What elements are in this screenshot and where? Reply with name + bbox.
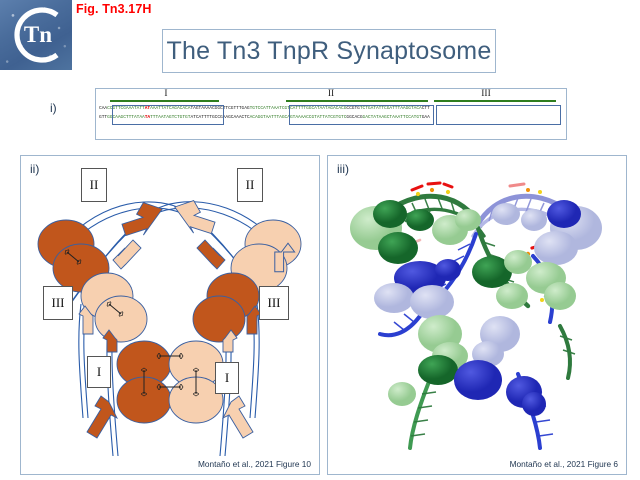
protein-blue-dark — [522, 392, 546, 416]
seq-segment: GTT — [99, 115, 107, 120]
panel-i-label: i) — [50, 101, 57, 115]
protein-blue-light — [534, 231, 578, 265]
protein-green-dark — [378, 232, 418, 264]
seq-segment: GGCACG — [346, 115, 362, 120]
panel-iii-caption: Montaño et al., 2021 Figure 6 — [510, 459, 618, 469]
logo-tn-text: Tn — [24, 22, 52, 47]
res-site-label-I: I — [136, 89, 196, 99]
protein-green-light — [496, 283, 528, 309]
protein-blue-light — [410, 285, 454, 319]
seq-segment: CTT — [422, 106, 430, 111]
arrow-dark — [118, 198, 168, 241]
protein-green-light — [455, 209, 481, 231]
arrow-light — [169, 196, 219, 239]
protein-green-light — [388, 382, 416, 406]
seq-segment: TAGTAAAACGGCTTCGTTTGAG — [190, 106, 249, 111]
protein-blue-light — [521, 209, 547, 231]
synaptosome-structure-render — [328, 156, 626, 474]
subunit-label-I-right: I — [215, 362, 239, 394]
seq-segment: CCGTTCGAAATATT — [107, 106, 145, 111]
page-title: The Tn3 TnpR Synaptosome — [167, 37, 492, 66]
seq-segment: AAATTATCAGACACA — [150, 106, 190, 111]
figure-tag: Fig. Tn3.17H — [76, 2, 152, 16]
arrow-dark — [197, 240, 225, 269]
panel-ii-schematic: ii) — [20, 155, 320, 475]
protein-subunits — [38, 220, 301, 423]
site-bar-I — [110, 100, 219, 102]
arrow-dark — [87, 396, 117, 438]
panel-iii-structure: iii) — [327, 155, 627, 475]
protein-green-dark — [406, 209, 434, 231]
protein-blue-light — [492, 203, 520, 225]
protein-green-dark — [373, 200, 407, 228]
sequence-panel: I II III CAACCGTTCGAAATATTATAAATTATCAGAC… — [95, 88, 567, 140]
seq-segment: ATCATTTTGCCGAAGCAAACTC — [190, 115, 249, 120]
seq-segment: TCTGATATTCGATTTAAGGTACA — [360, 106, 422, 111]
protein-blue-light — [374, 283, 414, 313]
subunit-label-III-left: III — [43, 286, 73, 320]
seq-segment: ACAGGTAATTTAGCAGTAAAACCGTATTATCGTGTC — [250, 115, 347, 120]
res-site-label-II: II — [301, 89, 361, 99]
arrow-light — [113, 240, 141, 269]
tn-logo: Tn — [0, 0, 72, 70]
protein-green-light — [504, 250, 532, 274]
subunit-dark — [193, 296, 245, 342]
site-bar-II — [286, 100, 428, 102]
protein-blue-dark — [435, 259, 461, 281]
site-bar-III — [434, 100, 556, 102]
protein-blue-dark — [547, 200, 581, 228]
title-box: The Tn3 TnpR Synaptosome — [162, 29, 496, 73]
subunit-label-II-right: II — [237, 168, 263, 202]
sequence-top-strand: CAACCGTTCGAAATATTATAAATTATCAGACACATAGTAA… — [99, 104, 563, 113]
protein-green-dark — [418, 355, 458, 385]
seq-segment: CCGTG — [346, 106, 359, 111]
subunit-light — [95, 296, 147, 342]
seq-segment: TTTAATAGTCTGTGT — [150, 115, 190, 120]
seq-segment: TGTCCATTAAATCGTCATTTTGGCATAATAGACACG — [250, 106, 347, 111]
panel-ii-caption: Montaño et al., 2021 Figure 10 — [198, 459, 311, 469]
protein-blue-dark — [454, 360, 502, 400]
subunit-label-I-left: I — [87, 356, 111, 388]
protein-green-light — [544, 282, 576, 310]
seq-segment: GGCAAGCTTTATAA — [107, 115, 145, 120]
res-site-label-III: III — [456, 89, 516, 99]
seq-segment: GAA — [422, 115, 430, 120]
subunit-label-II-left: II — [81, 168, 107, 202]
seq-segment: GACTATAAGCTAAATTCCATGT — [363, 115, 422, 120]
seq-segment: CAA — [99, 106, 107, 111]
sequence-bottom-strand: GTTGGCAAGCTTTATAATATTTAATAGTCTGTGTATCATT… — [99, 113, 563, 122]
subunit-label-III-right: III — [259, 286, 289, 320]
